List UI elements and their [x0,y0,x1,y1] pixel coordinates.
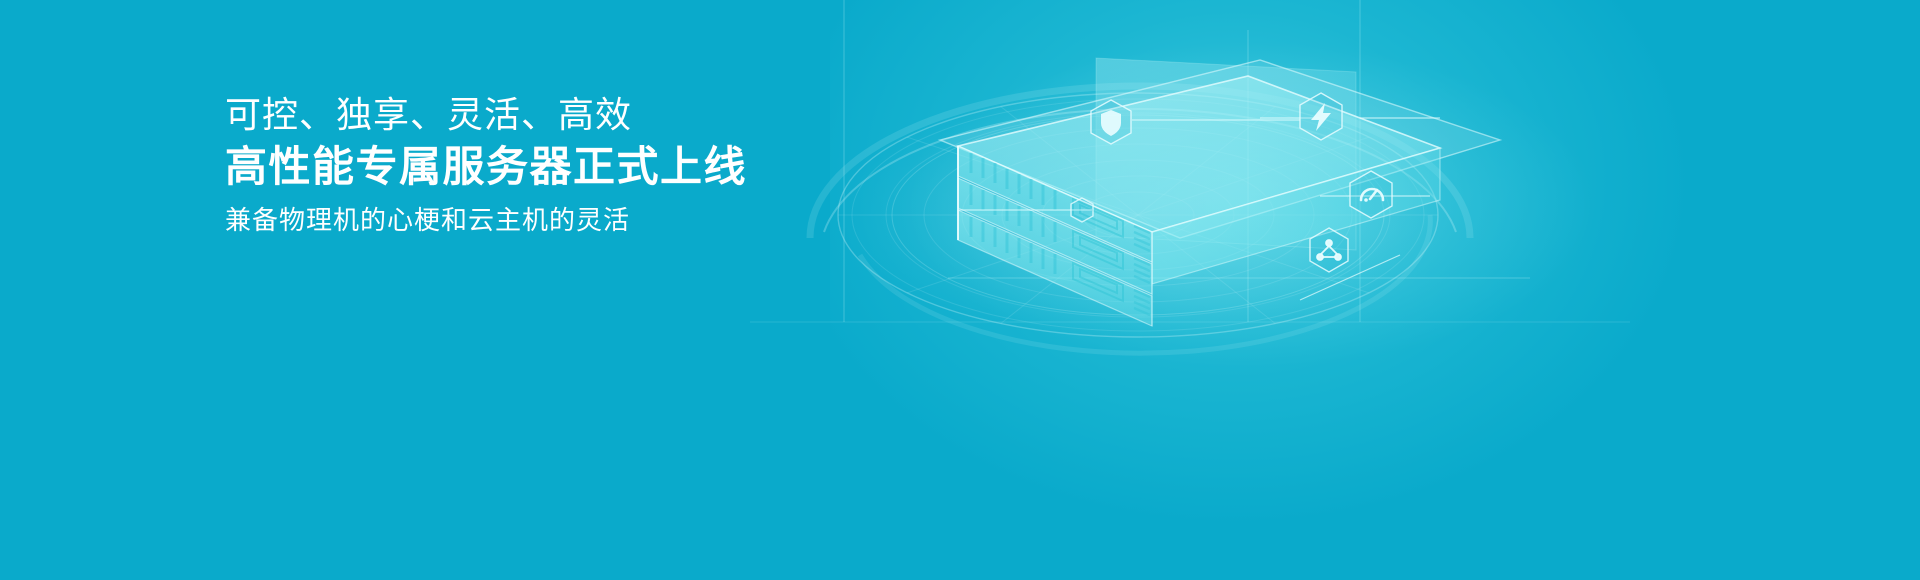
node-plain [1071,198,1093,222]
banner-headline: 高性能专属服务器正式上线 [225,140,985,194]
promo-banner: 可控、独享、灵活、高效 高性能专属服务器正式上线 兼备物理机的心梗和云主机的灵活 [0,0,1920,580]
banner-copy: 可控、独享、灵活、高效 高性能专属服务器正式上线 兼备物理机的心梗和云主机的灵活 [225,92,985,240]
hexagon-icon [1071,198,1093,222]
banner-description: 兼备物理机的心梗和云主机的灵活 [225,200,985,240]
banner-eyebrow: 可控、独享、灵活、高效 [225,92,985,138]
